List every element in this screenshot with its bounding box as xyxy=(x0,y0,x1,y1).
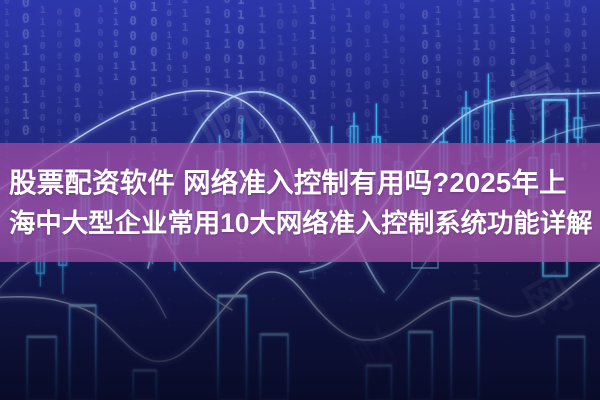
title-line-2: 海中大型企业常用10大网络准入控制系统功能详解 xyxy=(9,203,600,243)
title-block: 股票配资软件 网络准入控制有用吗?2025年上 海中大型企业常用10大网络准入控… xyxy=(0,143,600,262)
promo-banner-image: 0111010001000110111000111110111000010001… xyxy=(0,0,600,400)
title-line-1: 股票配资软件 网络准入控制有用吗?2025年上 xyxy=(9,163,600,203)
